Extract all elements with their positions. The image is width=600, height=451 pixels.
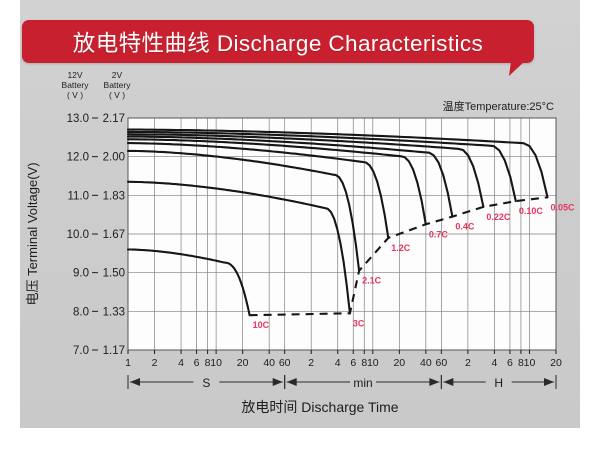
y-axis-12v-header-line2: Battery xyxy=(62,80,90,90)
x-tick-label: 20 xyxy=(237,357,249,369)
segment-arrow-left-icon xyxy=(287,378,297,386)
temperature-annotation: 温度Temperature:25°C xyxy=(443,99,554,113)
x-tick-label: 40 xyxy=(263,357,275,369)
y-axis-2v-header-line2: Battery xyxy=(104,80,132,90)
y-tick-label-12v: 7.0 xyxy=(73,345,89,357)
x-tick-label: 2 xyxy=(152,357,158,369)
x-tick-label: 4 xyxy=(335,357,341,369)
x-tick-label: 20 xyxy=(393,357,405,369)
x-axis-unit-label-min: min xyxy=(353,376,372,390)
page-title: 放电特性曲线 Discharge Characteristics xyxy=(22,20,534,63)
curve-label-0.10C: 0.10C xyxy=(519,206,544,216)
x-axis-unit-label-H: H xyxy=(494,376,503,390)
x-tick-label: 10 xyxy=(367,357,379,369)
x-tick-label: 40 xyxy=(420,357,432,369)
chart-svg: 12V Battery ( V ) 2V Battery ( V ) 13.01… xyxy=(20,64,580,428)
x-axis-unit-label-S: S xyxy=(202,376,210,390)
header-banner: 放电特性曲线 Discharge Characteristics xyxy=(22,20,534,63)
discharge-characteristics-chart: 12V Battery ( V ) 2V Battery ( V ) 13.01… xyxy=(20,64,580,428)
x-tick-label: 2 xyxy=(465,357,471,369)
curve-label-2.1C: 2.1C xyxy=(362,276,382,286)
x-tick-label: 6 xyxy=(194,357,200,369)
y-axis-12v-ticks: 13.012.011.010.09.08.07.0 xyxy=(67,113,98,357)
x-tick-label: 60 xyxy=(279,357,291,369)
y-tick-label-2v: 2.00 xyxy=(103,152,125,164)
curve-label-0.4C: 0.4C xyxy=(455,222,475,232)
y-tick-label-12v: 12.0 xyxy=(67,152,89,164)
x-tick-label: 60 xyxy=(436,357,448,369)
x-axis-unit-segments: SminH xyxy=(128,375,556,390)
segment-arrow-right-icon xyxy=(273,378,283,386)
y-axis-2v-header-line1: 2V xyxy=(112,70,123,80)
y-tick-label-2v: 1.17 xyxy=(103,345,125,357)
y-axis-2v-header-line3: ( V ) xyxy=(109,90,125,100)
page-root: 放电特性曲线 Discharge Characteristics 12V Bat… xyxy=(0,0,600,451)
y-tick-label-12v: 8.0 xyxy=(73,306,89,318)
y-tick-label-12v: 13.0 xyxy=(67,113,89,125)
x-tick-label: 4 xyxy=(491,357,497,369)
x-tick-label: 10 xyxy=(524,357,536,369)
y-tick-label-2v: 1.50 xyxy=(103,268,125,280)
segment-arrow-right-icon xyxy=(429,378,439,386)
curve-label-1.2C: 1.2C xyxy=(391,243,411,253)
y-axis-12v-header-line3: ( V ) xyxy=(67,90,83,100)
curve-label-0.7C: 0.7C xyxy=(429,229,449,239)
y-tick-label-12v: 10.0 xyxy=(67,229,89,241)
segment-arrow-left-icon xyxy=(443,378,453,386)
curve-label-0.05C: 0.05C xyxy=(550,202,575,212)
y-tick-label-12v: 11.0 xyxy=(67,190,89,202)
x-axis-ticks: 124681020406024681020406024681020 xyxy=(125,350,562,369)
segment-arrow-left-icon xyxy=(130,378,140,386)
x-tick-label: 4 xyxy=(178,357,184,369)
x-tick-label: 20 xyxy=(550,357,562,369)
x-tick-label: 2 xyxy=(308,357,314,369)
y-tick-label-12v: 9.0 xyxy=(73,268,89,280)
y-tick-label-2v: 1.83 xyxy=(103,190,125,202)
y-tick-label-2v: 1.67 xyxy=(103,229,125,241)
segment-arrow-right-icon xyxy=(544,378,554,386)
curve-label-0.22C: 0.22C xyxy=(486,212,511,222)
y-axis-2v-ticks: 2.172.001.831.671.501.331.17 xyxy=(103,113,125,357)
y-tick-label-2v: 2.17 xyxy=(103,113,125,125)
curve-label-3C: 3C xyxy=(353,318,365,328)
x-tick-label: 6 xyxy=(350,357,356,369)
x-tick-label: 10 xyxy=(210,357,222,369)
y-tick-label-2v: 1.33 xyxy=(103,306,125,318)
y-axis-headers: 12V Battery ( V ) 2V Battery ( V ) xyxy=(62,70,132,100)
x-axis-title: 放电时间 Discharge Time xyxy=(241,399,398,415)
y-axis-12v-header-line1: 12V xyxy=(67,70,82,80)
x-tick-label: 6 xyxy=(507,357,513,369)
x-tick-label: 1 xyxy=(125,357,131,369)
y-axis-title: 电压 Terminal Voltage(V) xyxy=(25,162,40,305)
curve-label-10C: 10C xyxy=(253,320,270,330)
